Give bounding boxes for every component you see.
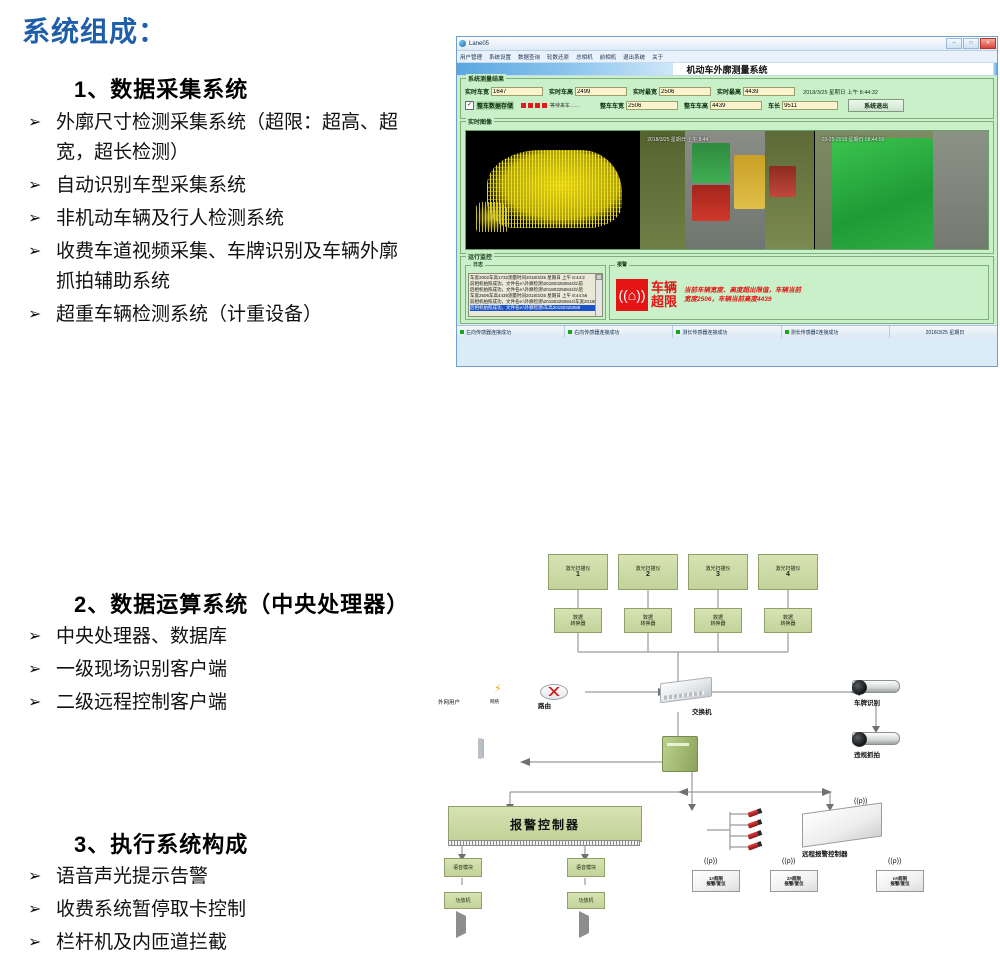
field-vehicle-width: 整车车宽 <box>600 101 678 110</box>
camera-overlay-timestamp: 03-25-2018 星期日 08:44:59 <box>822 136 885 143</box>
list-item: ➢外廓尺寸检测采集系统（超限：超高、超宽，超长检测） <box>22 108 422 168</box>
list-item: ➢语音声光提示告警 <box>22 862 422 892</box>
amplifier-2: 功放机 <box>567 892 605 909</box>
external-user-icon <box>452 678 468 694</box>
status-led-group <box>521 103 547 108</box>
vehicle-dark-truck <box>769 166 797 197</box>
field-realtime-height: 实时车高 <box>549 87 627 96</box>
converter-label-line2: 转换器 <box>780 621 795 627</box>
unit-label-line2: 报警/复位 <box>706 881 725 887</box>
field-realtime-width: 实时车宽 <box>465 87 543 96</box>
list-item: ➢收费系统暂停取卡控制 <box>22 895 422 925</box>
window-title: Lane05 <box>469 41 489 47</box>
violation-capture-label: 违规抓拍 <box>854 749 880 759</box>
alarm-controller-terminal-strip <box>448 840 640 846</box>
bullet-arrow-icon: ➢ <box>22 108 56 138</box>
speaker-icon-1 <box>456 916 470 926</box>
scanner-number: 3 <box>716 572 720 578</box>
wireless-alarm-unit-1: 1#超限 报警/复位 <box>692 870 740 892</box>
alarm-message-line2: 宽度2506，车辆当前高度4439 <box>684 296 771 303</box>
antenna-icon-unit-n: ((ρ)) <box>888 858 901 865</box>
operator-monitor-icon <box>478 740 520 770</box>
unit-label-line2: 报警/复位 <box>784 881 803 887</box>
list-item-label: 非机动车辆及行人检测系统 <box>56 204 284 234</box>
list-item: ➢一级现场识别客户端 <box>22 655 422 685</box>
antenna-icon-unit-2: ((ρ)) <box>782 858 795 865</box>
bullet-arrow-icon: ➢ <box>22 171 56 201</box>
field-label: 实时最宽 <box>633 87 657 96</box>
status-text: 左向传感器连接成功 <box>466 329 511 336</box>
field-label: 车长 <box>768 101 780 110</box>
measurement-row-2: ✓ 整车数据存储 等待来车…… 整车车宽 整车 <box>465 99 989 112</box>
system-architecture-diagram: 激光扫描仪 1 激光扫描仪 2 激光扫描仪 3 激光扫描仪 4 数据 转换器 数… <box>430 540 1000 885</box>
bullet-arrow-icon: ➢ <box>22 928 56 958</box>
field-max-width: 实时最宽 <box>633 87 711 96</box>
list-item-label: 自动识别车型采集系统 <box>56 171 246 201</box>
field-label: 实时车高 <box>549 87 573 96</box>
menu-item-rear-camera[interactable]: 总相机 <box>576 53 593 61</box>
wireless-alarm-unit-2: 2#超限 报警/复位 <box>770 870 818 892</box>
menu-bar: 用户管理 系统设置 数据查询 轮数还原 总相机 前相机 退出系统 关于 <box>457 51 997 63</box>
laser-scanner-4: 激光扫描仪 4 <box>758 554 818 590</box>
log-list[interactable]: 车宽2002车高1732测量时间2018/3/25 星期日 上午 8:44:2 … <box>468 273 603 317</box>
data-converter-2: 数据 转换器 <box>624 608 672 633</box>
window-titlebar: Lane05 – □ ✕ <box>457 37 997 51</box>
camera-overlay-timestamp: 2018/3/25 星期日 上午 8:44 <box>647 136 708 143</box>
converter-label-line2: 转换器 <box>710 621 725 627</box>
status-cell-date: 2018/3/25 星期日 <box>890 326 997 338</box>
bullet-arrow-icon: ➢ <box>22 688 56 718</box>
maximize-button[interactable]: □ <box>963 38 979 49</box>
section-1-bullets: ➢外廓尺寸检测采集系统（超限：超高、超宽，超长检测） ➢自动识别车型采集系统 ➢… <box>22 108 422 333</box>
led-indicator <box>535 103 540 108</box>
vehicle-red-truck <box>692 185 730 220</box>
menu-item-user-management[interactable]: 用户管理 <box>460 53 482 61</box>
section-2-bullets: ➢中央处理器、数据库 ➢一级现场识别客户端 ➢二级远程控制客户端 <box>22 622 422 721</box>
data-converter-3: 数据 转换器 <box>694 608 742 633</box>
converter-label-line2: 转换器 <box>570 621 585 627</box>
menu-item-system-settings[interactable]: 系统设置 <box>489 53 511 61</box>
vehicle-length-input[interactable] <box>782 101 838 110</box>
menu-item-front-camera[interactable]: 前相机 <box>600 53 617 61</box>
alarm-panel: ((⌂)) 车辆 超限 当前车辆宽度、高度超出限值，车辆当前 宽度2506，车辆… <box>612 273 986 317</box>
slide-page: 系统组成： 1、数据采集系统 ➢外廓尺寸检测采集系统（超限：超高、超宽，超长检测… <box>0 0 1000 971</box>
alarm-bell-icon: ((⌂)) <box>616 279 648 311</box>
network-label: 网络 <box>490 699 499 705</box>
vehicle-yellow-truck <box>734 155 765 209</box>
realtime-image-group: 实时图像 2018/3/25 星期日 上午 8:44 <box>460 121 994 254</box>
list-item: ➢栏杆机及内匝道拦截 <box>22 928 422 958</box>
speaker-cone <box>456 911 466 938</box>
status-dot-icon <box>460 330 464 334</box>
field-label: 整车车高 <box>684 101 708 110</box>
list-item-label: 二级远程控制客户端 <box>56 688 227 718</box>
status-dot-icon <box>568 330 572 334</box>
list-item-label: 语音声光提示告警 <box>56 862 208 892</box>
alarm-message: 当前车辆宽度、高度超出限值，车辆当前 宽度2506，车辆当前高度4439 <box>684 286 801 304</box>
voice-module-1: 语音模块 <box>444 858 482 877</box>
run-monitor-group: 运行监控 日志 车宽2002车高1732测量时间2018/3/25 星期日 上午… <box>460 256 994 324</box>
section-3-bullets: ➢语音声光提示告警 ➢收费系统暂停取卡控制 ➢栏杆机及内匝道拦截 <box>22 862 422 961</box>
app-body: 系统测量结果 实时车宽 实时车高 实时最宽 实时最高 <box>457 76 997 324</box>
field-label: 实时车宽 <box>465 87 489 96</box>
network-bolt-icon: ⚡ <box>494 682 502 695</box>
data-converter-4: 数据 转换器 <box>764 608 812 633</box>
scanner-number: 4 <box>786 572 790 578</box>
section-heading-1: 1、数据采集系统 <box>74 72 248 104</box>
status-bar: 左向传感器连接成功 右向传感器连接成功 测长传感器连接成功 测长传感器2连接成功… <box>457 325 997 338</box>
log-group: 日志 车宽2002车高1732测量时间2018/3/25 星期日 上午 8:44… <box>465 265 606 320</box>
field-max-height: 实时最高 <box>717 87 795 96</box>
field-label: 实时最高 <box>717 87 741 96</box>
vehicle-width-input[interactable] <box>626 101 678 110</box>
front-camera-view: 2018/3/25 星期日 上午 8:44 <box>640 131 813 249</box>
list-item: ➢超重车辆检测系统（计重设备） <box>22 300 422 330</box>
vehicle-green-tarp <box>692 143 730 183</box>
list-item-label: 栏杆机及内匝道拦截 <box>56 928 227 958</box>
section-heading-2: 2、数据运算系统（中央处理器） <box>74 587 409 619</box>
data-converter-1: 数据 转换器 <box>554 608 602 633</box>
field-label: 整车车宽 <box>600 101 624 110</box>
switch-label: 交换机 <box>692 706 712 716</box>
alarm-title-line2: 超限 <box>651 294 677 309</box>
scroll-up-arrow-icon[interactable] <box>596 274 602 280</box>
plate-recognition-label: 车牌识别 <box>854 697 880 707</box>
vehicle-height-input[interactable] <box>710 101 762 110</box>
scanner-number: 2 <box>646 572 650 578</box>
laser-scanner-3: 激光扫描仪 3 <box>688 554 748 590</box>
status-text: 右向传感器连接成功 <box>574 329 619 336</box>
list-item-label: 超重车辆检测系统（计重设备） <box>56 300 322 330</box>
bullet-arrow-icon: ➢ <box>22 655 56 685</box>
list-item-label: 外廓尺寸检测采集系统（超限：超高、超宽，超长检测） <box>56 108 416 168</box>
speaker-icon-2 <box>579 916 593 926</box>
realtime-height-input[interactable] <box>575 87 627 96</box>
plate-recognition-camera-icon <box>852 680 900 693</box>
alarm-group: 报警 ((⌂)) 车辆 超限 当前车辆宽度、高度超出限值，车辆当前 宽度2506… <box>609 265 989 320</box>
alarm-controller: 报警控制器 <box>448 806 642 842</box>
measurement-row-1: 实时车宽 实时车高 实时最宽 实时最高 2018/ <box>465 87 989 96</box>
checkbox-label: 整车数据存储 <box>476 101 514 110</box>
status-cell-left-sensor: 左向传感器连接成功 <box>457 326 565 338</box>
image-panel-row: 2018/3/25 星期日 上午 8:44 03-25-2018 星期日 08:… <box>465 130 989 250</box>
menu-item-exit-system[interactable]: 退出系统 <box>623 53 645 61</box>
router-icon <box>540 684 568 700</box>
section-heading-3: 3、执行系统构成 <box>74 827 248 859</box>
log-scrollbar[interactable] <box>595 274 602 316</box>
field-vehicle-length: 车长 <box>768 101 838 110</box>
menu-item-data-query[interactable]: 数据查询 <box>518 53 540 61</box>
status-cell-right-sensor: 右向传感器连接成功 <box>565 326 673 338</box>
close-button[interactable]: ✕ <box>980 38 996 49</box>
realtime-image-legend: 实时图像 <box>466 117 494 126</box>
exit-system-button[interactable]: 系统退出 <box>848 99 904 112</box>
alarm-title: 车辆 超限 <box>651 281 677 309</box>
log-legend: 日志 <box>471 261 485 268</box>
server-operator-icon <box>690 758 703 771</box>
list-item-label: 收费系统暂停取卡控制 <box>56 895 246 925</box>
list-item: ➢收费车道视频采集、车牌识别及车辆外廓抓拍辅助系统 <box>22 237 422 297</box>
list-item: ➢中央处理器、数据库 <box>22 622 422 652</box>
antenna-icon-unit-1: ((ρ)) <box>704 858 717 865</box>
remote-alarm-controller-label: 远程报警控制器 <box>802 848 848 858</box>
page-title: 系统组成： <box>22 10 167 50</box>
app-title: 机动车外廓测量系统 <box>457 63 997 76</box>
log-line-selected: 后相机拍照成功，文件名e:\外廓检测\车高20180325088 <box>470 305 601 311</box>
amplifier-1: 功放机 <box>444 892 482 909</box>
led-indicator <box>542 103 547 108</box>
violation-capture-camera-icon <box>852 732 900 745</box>
bullet-arrow-icon: ➢ <box>22 237 56 267</box>
minimize-button[interactable]: – <box>946 38 962 49</box>
status-text: 测长传感器连接成功 <box>682 329 727 336</box>
scanner-number: 1 <box>576 572 580 578</box>
list-item: ➢非机动车辆及行人检测系统 <box>22 204 422 234</box>
measurement-results-group: 系统测量结果 实时车宽 实时车高 实时最宽 实时最高 <box>460 78 994 119</box>
status-cell-length-sensor: 测长传感器连接成功 <box>673 326 781 338</box>
list-item-label: 一级现场识别客户端 <box>56 655 227 685</box>
alarm-message-line1: 当前车辆宽度、高度超出限值，车辆当前 <box>684 287 801 294</box>
waiting-text: 等待来车…… <box>550 102 580 109</box>
external-user-label: 外网用户 <box>438 698 460 706</box>
bullet-arrow-icon: ➢ <box>22 204 56 234</box>
app-logo-icon <box>459 40 466 47</box>
list-item: ➢二级远程控制客户端 <box>22 688 422 718</box>
rear-camera-view: 03-25-2018 星期日 08:44:59 <box>815 131 988 249</box>
bullet-arrow-icon: ➢ <box>22 895 56 925</box>
monitor-row: 日志 车宽2002车高1732测量时间2018/3/25 星期日 上午 8:44… <box>465 265 989 320</box>
alarm-legend: 报警 <box>615 261 629 268</box>
road-surface <box>933 131 988 249</box>
realtime-width-input[interactable] <box>491 87 543 96</box>
max-width-input[interactable] <box>659 87 711 96</box>
bullet-arrow-icon: ➢ <box>22 300 56 330</box>
timestamp-label: 2018/3/25 星期日 上午 8:44:32 <box>803 88 878 96</box>
bullet-arrow-icon: ➢ <box>22 862 56 892</box>
list-item-label: 中央处理器、数据库 <box>56 622 227 652</box>
status-dot-icon <box>785 330 789 334</box>
status-dot-icon <box>676 330 680 334</box>
field-vehicle-height: 整车车高 <box>684 101 762 110</box>
run-monitor-legend: 运行监控 <box>466 252 494 261</box>
vehicle-green-cargo <box>832 138 933 249</box>
window-controls: – □ ✕ <box>946 38 996 49</box>
measurement-app-window: Lane05 – □ ✕ 用户管理 系统设置 数据查询 轮数还原 总相机 前相机… <box>456 36 998 367</box>
point-cloud-view <box>466 131 639 249</box>
whole-vehicle-storage-checkbox[interactable]: ✓ 整车数据存储 <box>465 101 514 110</box>
laser-scanner-1: 激光扫描仪 1 <box>548 554 608 590</box>
voice-module-2: 语音模块 <box>567 858 605 877</box>
speaker-cone <box>579 911 589 938</box>
monitor-stand <box>482 739 484 758</box>
led-indicator <box>528 103 533 108</box>
roadside-left <box>640 131 685 249</box>
laser-scanner-2: 激光扫描仪 2 <box>618 554 678 590</box>
menu-item-data-restore[interactable]: 轮数还原 <box>547 53 569 61</box>
max-height-input[interactable] <box>743 87 795 96</box>
status-text: 测长传感器2连接成功 <box>791 329 839 336</box>
switch-ports <box>664 691 704 700</box>
status-cell-length-sensor-2: 测长传感器2连接成功 <box>782 326 890 338</box>
router-label: 路由 <box>538 700 551 710</box>
bullet-arrow-icon: ➢ <box>22 622 56 652</box>
list-item: ➢自动识别车型采集系统 <box>22 171 422 201</box>
wireless-alarm-unit-n: n#超限 报警/复位 <box>876 870 924 892</box>
led-indicator <box>521 103 526 108</box>
app-banner: 机动车外廓测量系统 <box>457 63 997 76</box>
list-item-label: 收费车道视频采集、车牌识别及车辆外廓抓拍辅助系统 <box>56 237 416 297</box>
unit-label-line2: 报警/复位 <box>890 881 909 887</box>
alarm-title-line1: 车辆 <box>651 280 677 295</box>
checkbox-check-icon: ✓ <box>465 101 474 110</box>
point-cloud-cab <box>476 202 507 233</box>
menu-item-about[interactable]: 关于 <box>652 53 663 61</box>
converter-label-line2: 转换器 <box>640 621 655 627</box>
